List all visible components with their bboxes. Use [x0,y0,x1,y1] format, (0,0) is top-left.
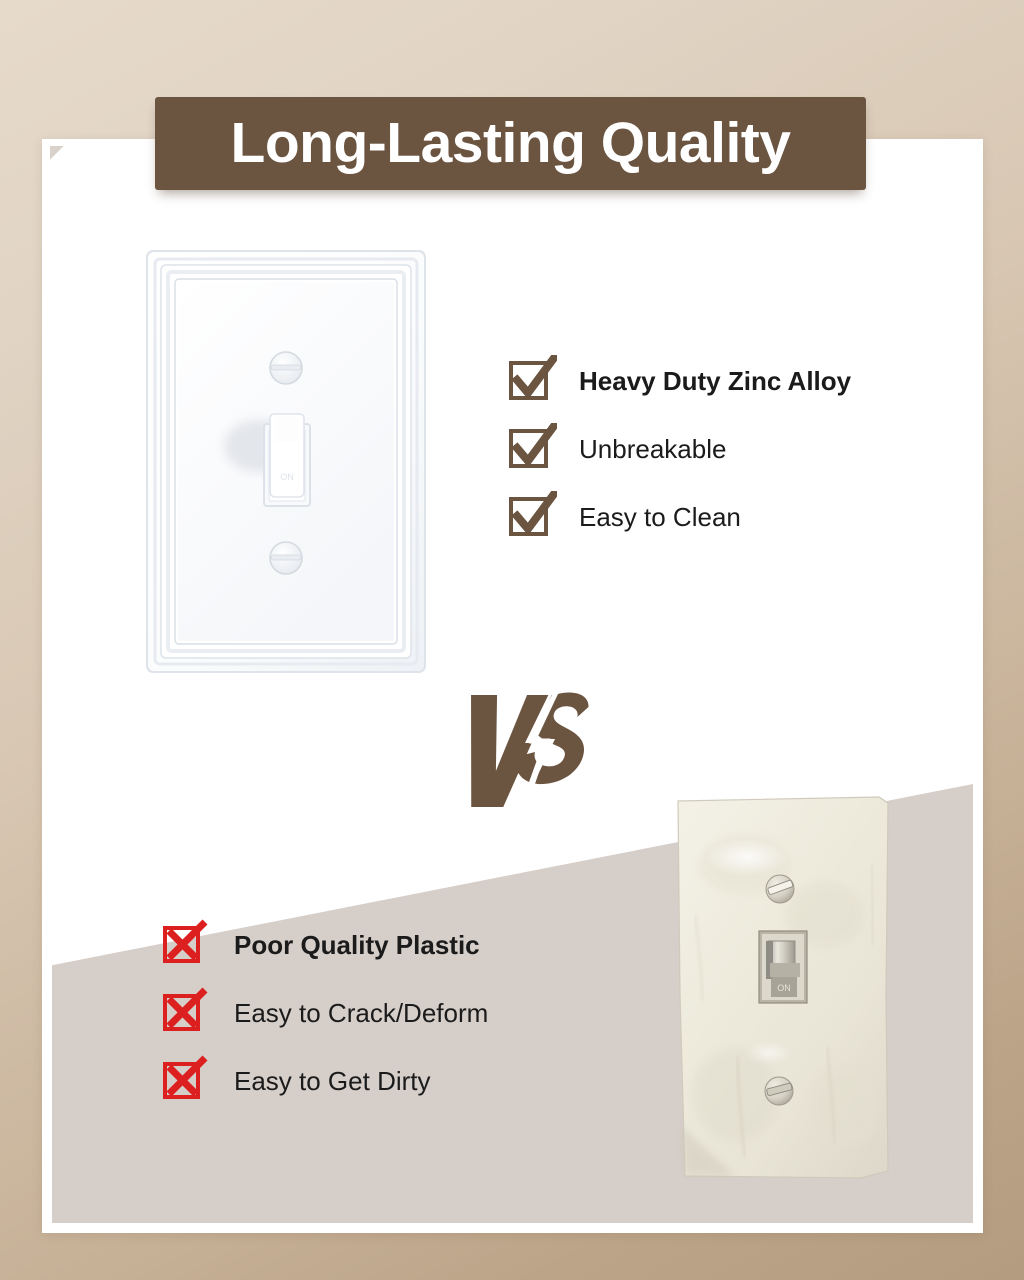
feature-label: Poor Quality Plastic [234,931,480,960]
x-mark-icon [160,987,212,1039]
good-feature-list: Heavy Duty Zinc Alloy Unbreakable Easy t… [505,347,975,551]
comparison-card: ON [42,139,983,1233]
list-item: Heavy Duty Zinc Alloy [505,347,975,415]
list-item: Unbreakable [505,415,975,483]
svg-text:ON: ON [777,983,791,993]
bad-product-image: ON [675,795,892,1181]
page-title: Long-Lasting Quality [231,115,791,172]
x-mark-icon [160,919,212,971]
vs-divider [455,667,635,827]
list-item: Easy to Get Dirty [160,1047,630,1115]
feature-label: Easy to Get Dirty [234,1067,431,1096]
x-mark-icon [160,1055,212,1107]
list-item: Easy to Crack/Deform [160,979,630,1047]
list-item: Easy to Clean [505,483,975,551]
bad-feature-list: Poor Quality Plastic Easy to Crack/Defor… [160,911,630,1115]
title-banner: Long-Lasting Quality [155,97,866,190]
checkmark-icon [505,355,557,407]
feature-label: Unbreakable [579,435,726,464]
feature-label: Easy to Clean [579,503,741,532]
good-product-image: ON [142,246,430,677]
checkmark-icon [505,423,557,475]
list-item: Poor Quality Plastic [160,911,630,979]
checkmark-icon [505,491,557,543]
svg-text:ON: ON [280,472,294,482]
feature-label: Heavy Duty Zinc Alloy [579,367,851,396]
card-corner-fold [50,146,64,160]
feature-label: Easy to Crack/Deform [234,999,488,1028]
